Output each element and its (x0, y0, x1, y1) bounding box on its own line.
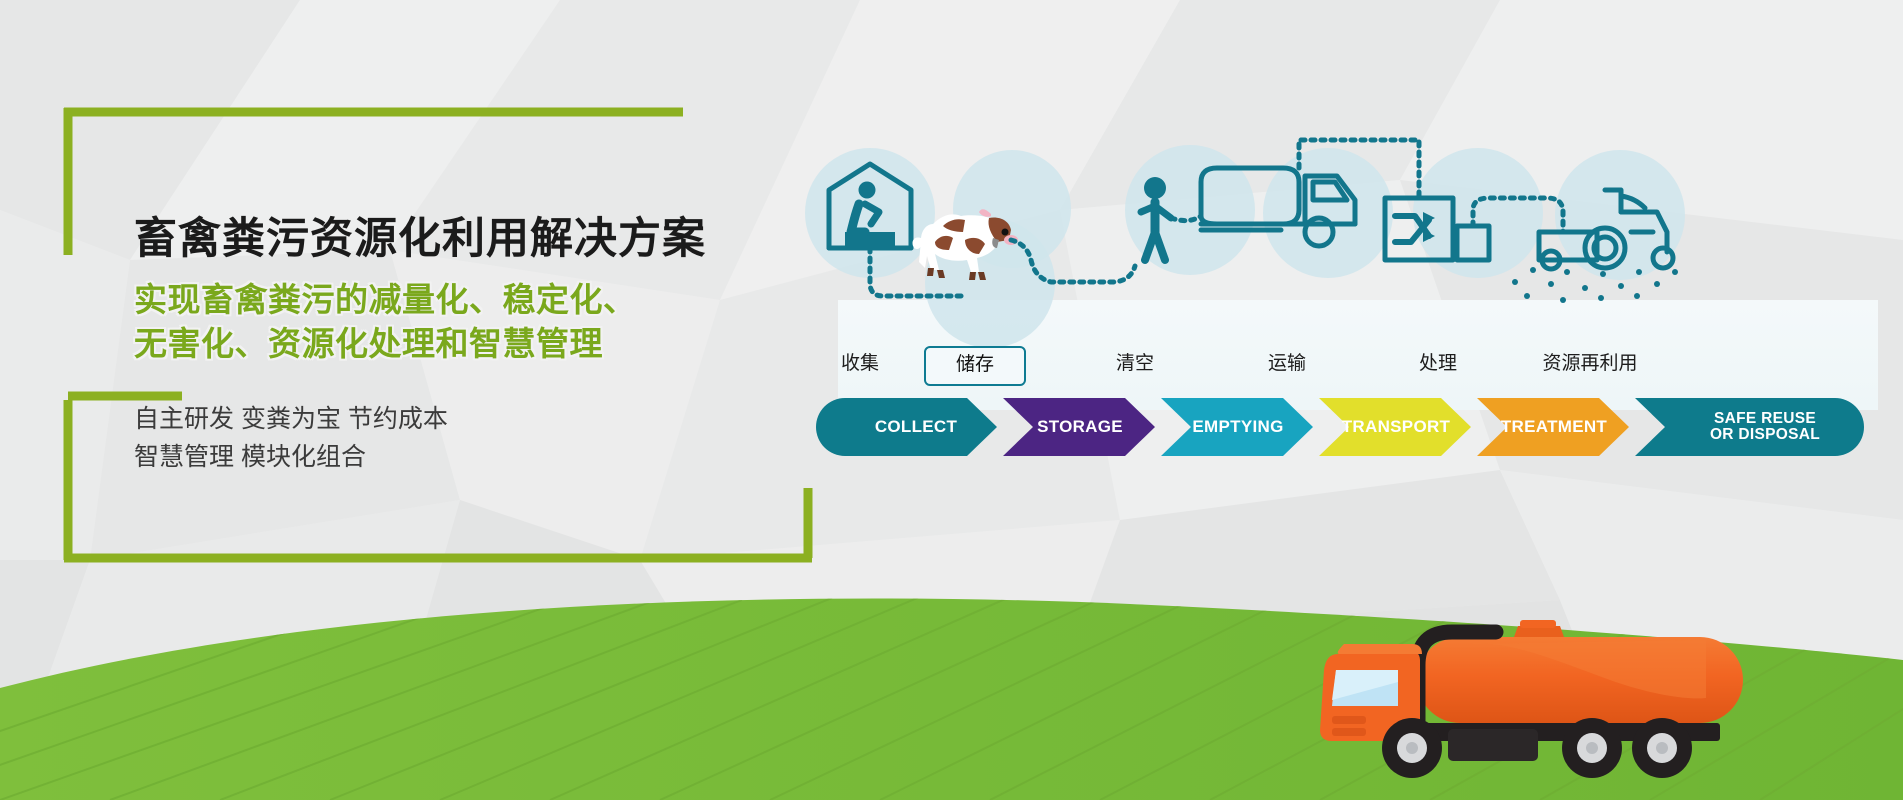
cn-label-storage[interactable]: 储存 (924, 346, 1026, 386)
chevron-treatment[interactable]: TREATMENT (1479, 398, 1629, 456)
feature-line-2: 智慧管理 模块化组合 (134, 438, 794, 477)
chevron-storage[interactable]: STORAGE (1005, 398, 1155, 456)
cn-label-collect: 收集 (795, 348, 925, 375)
chevron-label-reuse-line1: SAFE REUSE (1714, 410, 1816, 427)
page-title: 畜禽粪污资源化利用解决方案 (134, 215, 794, 264)
feature-list: 自主研发 变粪为宝 节约成本 智慧管理 模块化组合 (134, 400, 794, 478)
person-hose-icon (1141, 177, 1201, 260)
chevron-label-emptying: EMPTYING (1192, 418, 1283, 436)
chevron-label-treatment: TREATMENT (1501, 418, 1607, 436)
chevron-emptying[interactable]: EMPTYING (1163, 398, 1313, 456)
cn-label-emptying: 清空 (1070, 348, 1200, 375)
headline-block: 畜禽粪污资源化利用解决方案 实现畜禽粪污的减量化、稳定化、 无害化、资源化处理和… (134, 215, 794, 477)
chevron-label-collect: COLLECT (875, 418, 957, 436)
feature-line-1: 自主研发 变粪为宝 节约成本 (134, 400, 794, 439)
tanker-truck-icon (1201, 168, 1355, 246)
process-chevron-bar: COLLECT STORAGE EMPTYING TRANSPORT TREAT… (815, 398, 1895, 460)
chevron-label-reuse-line2: OR DISPOSAL (1710, 426, 1820, 443)
landscape-scene (0, 540, 1903, 800)
cn-label-transport: 运输 (1222, 348, 1352, 375)
cn-label-reuse: 资源再利用 (1500, 348, 1680, 375)
banner-stage: 畜禽粪污资源化利用解决方案 实现畜禽粪污的减量化、稳定化、 无害化、资源化处理和… (0, 0, 1903, 800)
chevron-label-storage: STORAGE (1037, 418, 1123, 436)
spread-dots (1512, 267, 1678, 303)
cn-label-treatment: 处理 (1373, 348, 1503, 375)
barn-person-icon (829, 164, 911, 248)
subheading-line-2: 无害化、资源化处理和智慧管理 (134, 322, 794, 366)
cow-icon (912, 209, 1018, 280)
subheading-line-1: 实现畜禽粪污的减量化、稳定化、 (134, 278, 794, 322)
chevron-collect[interactable]: COLLECT (835, 398, 997, 456)
chevron-reuse[interactable]: SAFE REUSE OR DISPOSAL (1665, 398, 1865, 456)
chevron-label-transport: TRANSPORT (1342, 418, 1450, 436)
chevron-transport[interactable]: TRANSPORT (1321, 398, 1471, 456)
chevron-label-reuse: SAFE REUSE OR DISPOSAL (1710, 411, 1820, 444)
subheading: 实现畜禽粪污的减量化、稳定化、 无害化、资源化处理和智慧管理 (134, 278, 794, 365)
